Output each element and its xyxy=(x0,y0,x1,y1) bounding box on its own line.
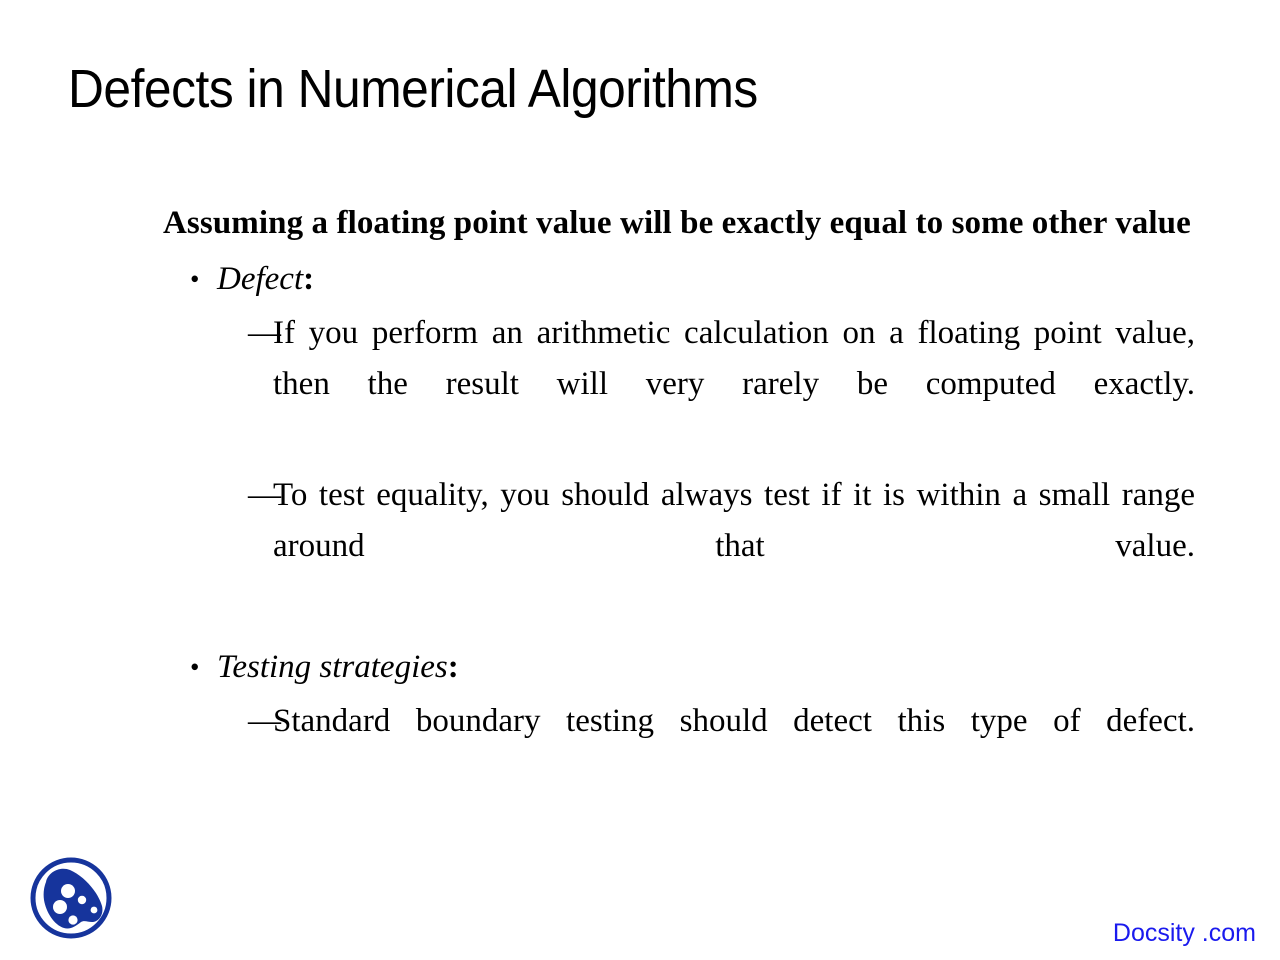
slide-body: Assuming a floating point value will be … xyxy=(163,198,1195,798)
bullet-colon-testing-strategies: : xyxy=(448,649,459,685)
bullet-item-defect: •Defect: xyxy=(163,253,1195,305)
page-title: Defects in Numerical Algorithms xyxy=(68,58,1126,120)
bullet-colon-defect: : xyxy=(303,261,314,297)
bullet-label-defect: Defect xyxy=(217,261,303,297)
em-dash-icon: — xyxy=(248,308,281,359)
sub-item-text: If you perform an arithmetic calculation… xyxy=(273,308,1195,461)
bullet-item-testing-strategies: •Testing strategies: xyxy=(163,641,1195,693)
docsity-brand-text: Docsity .com xyxy=(1113,918,1256,948)
docsity-logo-icon xyxy=(26,852,116,944)
bullet-dot-icon: • xyxy=(190,253,199,305)
sub-item-defect-2: — To test equality, you should always te… xyxy=(163,470,1195,623)
em-dash-icon: — xyxy=(248,696,281,747)
slide-canvas: Defects in Numerical Algorithms Assuming… xyxy=(0,0,1280,960)
sub-item-defect-1: — If you perform an arithmetic calculati… xyxy=(163,308,1195,461)
sub-item-text: Standard boundary testing should detect … xyxy=(273,696,1195,798)
sub-item-text: To test equality, you should always test… xyxy=(273,470,1195,623)
lead-statement: Assuming a floating point value will be … xyxy=(163,198,1195,249)
bullet-dot-icon: • xyxy=(190,641,199,693)
bullet-label-testing-strategies: Testing strategies xyxy=(217,649,448,685)
em-dash-icon: — xyxy=(248,470,281,521)
sub-item-testing-1: — Standard boundary testing should detec… xyxy=(163,696,1195,798)
